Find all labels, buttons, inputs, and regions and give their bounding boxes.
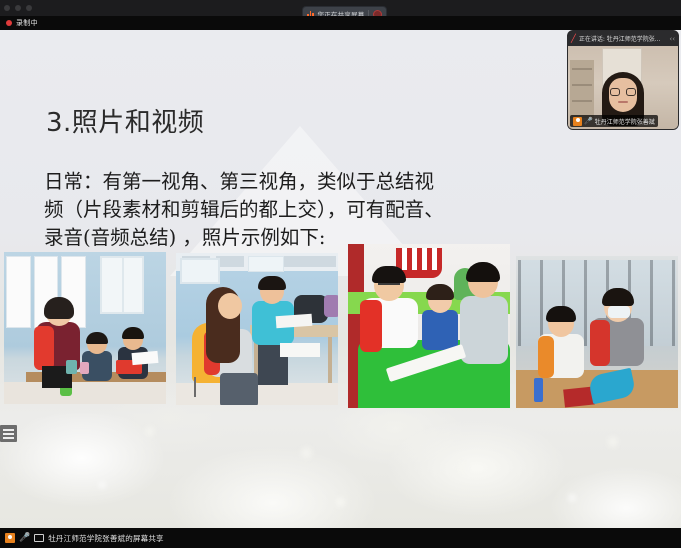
- slide-body-line: 频（片段素材和剪辑后的都上交），可有配音、: [44, 196, 514, 224]
- slide-photo-strip: [0, 241, 681, 413]
- mic-icon: 🎤: [584, 117, 593, 125]
- minimize-window-button[interactable]: [15, 5, 21, 11]
- video-panel-header[interactable]: ╱ 正在讲话: 牡丹江师范学院张... ‹‹: [568, 31, 678, 46]
- chevron-double-icon[interactable]: ‹‹: [669, 35, 675, 43]
- mic-muted-icon: ╱: [571, 35, 576, 43]
- photo-green-table-activity: [348, 244, 510, 408]
- screen-share-owner-label: 牡丹江师范学院张善斌的屏幕共享: [48, 533, 164, 544]
- participant-video-thumbnail[interactable]: ╱ 正在讲话: 牡丹江师范学院张... ‹‹ 🎤 牡丹江师范学院张善斌: [568, 31, 678, 129]
- active-speaker-label: 正在讲话: 牡丹江师范学院张...: [579, 34, 667, 43]
- bottom-status-bar: 🎤 牡丹江师范学院张善斌的屏幕共享: [0, 528, 681, 548]
- recording-label: 录制中: [16, 18, 38, 28]
- window-traffic-lights[interactable]: [4, 5, 32, 11]
- recording-bar: 录制中: [0, 16, 681, 30]
- record-dot-icon: [6, 20, 12, 26]
- list-menu-icon[interactable]: [0, 425, 17, 442]
- screen-share-icon: [34, 534, 44, 542]
- video-feed: 🎤 牡丹江师范学院张善斌: [568, 46, 678, 129]
- participant-name-badge: 🎤 牡丹江师范学院张善斌: [570, 115, 658, 127]
- slide-body-text: 日常：有第一视角、第三视角，类似于总结视 频（片段素材和剪辑后的都上交），可有配…: [44, 168, 514, 252]
- zoom-screen-share-window: 您正在共享屏幕 录制中 3.照片和视频 日常：有第一视角、第三视角，类似于总结视…: [0, 0, 681, 548]
- photo-paper-craft: [516, 256, 678, 408]
- photo-desk-study: [176, 253, 338, 405]
- slide-title: 3.照片和视频: [46, 102, 204, 139]
- slide-body-line: 日常：有第一视角、第三视角，类似于总结视: [44, 168, 514, 196]
- participant-name: 牡丹江师范学院张善斌: [595, 117, 655, 126]
- photo-classroom-tutoring: [4, 252, 166, 404]
- close-window-button[interactable]: [4, 5, 10, 11]
- mic-icon[interactable]: 🎤: [19, 534, 30, 543]
- user-avatar-icon: [5, 533, 15, 543]
- user-avatar-icon: [573, 117, 582, 126]
- zoom-window-button[interactable]: [26, 5, 32, 11]
